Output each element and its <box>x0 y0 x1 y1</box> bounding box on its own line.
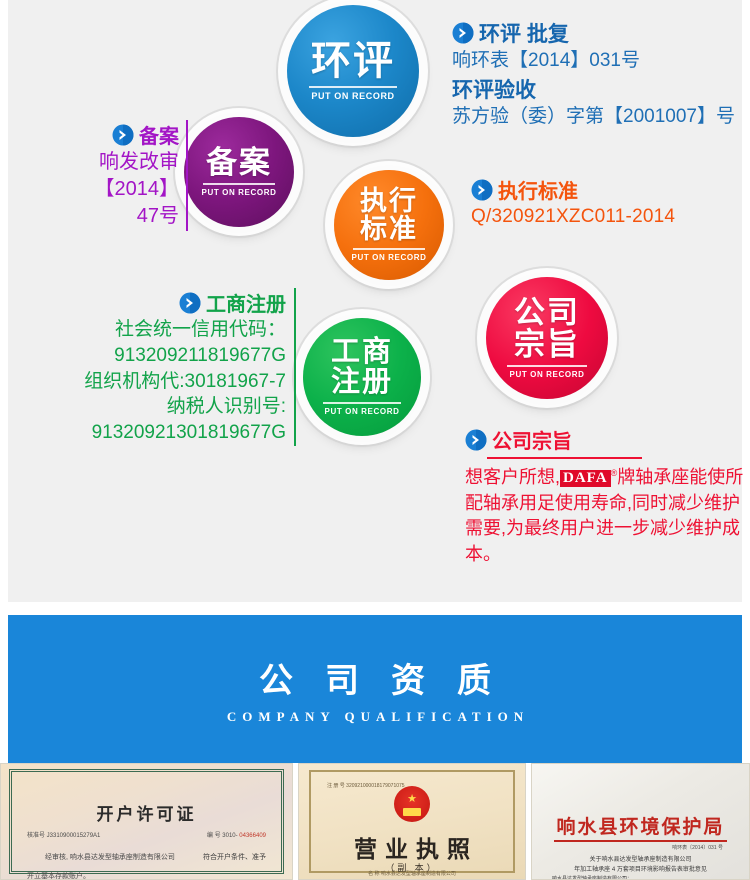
info-zongzhi-body-pre: 想客户所想, <box>465 467 560 487</box>
info-beian-line3: 47号 <box>68 203 179 230</box>
badge-beian-cn: 备案 <box>206 147 272 179</box>
certificate-approved-row: 经审核, 响水县达发型轴承座制造有限公司 <box>45 852 175 862</box>
badge-divider <box>203 183 276 185</box>
info-gongsi-zongzhi: 公司宗旨 想客户所想,DAFA®牌轴承座能使所配轴承用足使用寿命,同时减少维护需… <box>465 425 745 567</box>
info-gongshang-line3: 组织机构代:30181967-7 <box>28 369 286 395</box>
certificate-epb-line2: 年加工轴承座 4 万套项目环境影响报告表审批意见 <box>532 864 749 873</box>
badge-gongshang-cn2: 注册 <box>331 368 393 398</box>
certificate-field-left: 核准号 J3310900015279A1 <box>27 830 100 839</box>
chevron-right-icon <box>452 22 474 44</box>
info-gongshang-line1: 社会统一信用代码： <box>28 317 286 343</box>
certificate-gallery: 开户许可证 核准号 J3310900015279A1 编 号 3010- 043… <box>0 763 750 880</box>
info-gongshang-zhuce: 工商注册 社会统一信用代码： 913209211819677G 组织机构代:30… <box>28 288 296 446</box>
certificate-registration-code: 注 册 号 320921000018179071075 <box>327 782 405 789</box>
certificate-business-license-title: 营业执照 <box>299 830 525 864</box>
badge-zongzhi-cn1: 公司 <box>514 297 580 329</box>
info-huanping-line1: 响环表【2014】031号 <box>452 48 735 74</box>
info-zhixing-line1: Q/320921XZC011-2014 <box>471 204 675 230</box>
info-zhixing-biaozhun: 执行标准 Q/320921XZC011-2014 <box>471 175 675 230</box>
info-gongshang-heading: 工商注册 <box>206 288 286 317</box>
info-huanping-heading2: 环评验收 <box>452 74 735 104</box>
info-beian-heading-row: 备案 <box>68 120 179 149</box>
info-huanping-line2: 苏方验（委）字第【2001007】号 <box>452 104 735 130</box>
certificate-number-value: 3010- <box>222 833 237 839</box>
info-gongshang-line5: 91320921301819677G <box>28 420 286 446</box>
info-huanping-heading-row: 环评 批复 <box>452 18 735 48</box>
certificate-number-label: 编 号 <box>207 833 221 839</box>
badge-zhixing-en: PUT ON RECORD <box>352 253 427 262</box>
certificate-field-right: 编 号 3010- 04366409 <box>207 830 266 839</box>
badge-beian[interactable]: 备案 PUT ON RECORD <box>184 117 294 227</box>
info-gongshang-line2: 913209211819677G <box>28 343 286 369</box>
certificate-epb-title: 响水县环境保护局 <box>532 812 749 839</box>
info-zongzhi-heading: 公司宗旨 <box>492 425 572 454</box>
chevron-right-icon <box>465 429 487 451</box>
certificate-document-number: 响环表〔2014〕031 号 <box>672 844 723 851</box>
badge-huanping-cn: 环评 <box>311 41 395 82</box>
info-gongshang-line4: 纳税人识别号: <box>28 394 286 420</box>
info-zongzhi-body: 想客户所想,DAFA®牌轴承座能使所配轴承用足使用寿命,同时减少维护需要,为最终… <box>465 465 750 567</box>
info-huanping-heading: 环评 批复 <box>479 18 569 48</box>
badge-huanping-en: PUT ON RECORD <box>311 91 394 101</box>
info-zongzhi-divider <box>487 457 642 459</box>
chevron-right-icon <box>471 179 493 201</box>
badge-zhixing-biaozhun[interactable]: 执行 标准 PUT ON RECORD <box>334 170 444 280</box>
badge-gongsi-zongzhi[interactable]: 公司 宗旨 PUT ON RECORD <box>486 277 608 399</box>
badge-zongzhi-cn2: 宗旨 <box>514 329 580 361</box>
badge-divider <box>507 365 588 367</box>
qualification-banner: 公司资质 COMPANY QUALIFICATION <box>8 615 742 763</box>
badge-divider <box>323 402 401 404</box>
info-huanping: 环评 批复 响环表【2014】031号 环评验收 苏方验（委）字第【200100… <box>448 18 735 130</box>
certificate-company-name: 名 称 响水县达发型轴承座制造有限公司 <box>299 870 525 877</box>
certificate-approved-label: 经审核, <box>45 854 68 861</box>
certificate-business-license[interactable]: 注 册 号 320921000018179071075 营业执照 （副 本） 名… <box>298 763 526 880</box>
badge-gongshang-en: PUT ON RECORD <box>325 407 400 416</box>
badge-gongshang-zhuce[interactable]: 工商 注册 PUT ON RECORD <box>303 318 421 436</box>
info-gongshang-heading-row: 工商注册 <box>28 288 286 317</box>
certificate-condition-text: 符合开户条件、准予 <box>203 852 266 862</box>
badge-huanping[interactable]: 环评 PUT ON RECORD <box>287 5 419 137</box>
certification-panel: 环评 PUT ON RECORD 备案 PUT ON RECORD 执行 标准 … <box>8 0 742 602</box>
certificate-number-red: 04366409 <box>239 833 266 839</box>
info-zhixing-heading-row: 执行标准 <box>471 175 675 204</box>
badge-divider <box>309 86 396 88</box>
chevron-right-icon <box>112 124 134 146</box>
chevron-right-icon <box>179 292 201 314</box>
info-zhixing-heading: 执行标准 <box>498 175 578 204</box>
badge-zongzhi-en: PUT ON RECORD <box>510 370 585 379</box>
qualification-title-en: COMPANY QUALIFICATION <box>221 709 529 725</box>
info-beian-line1: 响发改审 <box>68 149 179 176</box>
info-beian-line2: 【2014】 <box>68 176 179 203</box>
qualification-page: 环评 PUT ON RECORD 备案 PUT ON RECORD 执行 标准 … <box>0 0 750 880</box>
certificate-epb-line3: 响水县达发型轴承座制造有限公司： <box>552 875 749 880</box>
info-zongzhi-heading-row: 公司宗旨 <box>465 425 745 454</box>
certificate-epb-line1: 关于响水县达发型轴承座制造有限公司 <box>532 854 749 863</box>
certificate-title-divider <box>554 840 727 842</box>
badge-divider <box>353 248 426 250</box>
certificate-bottom-text: 开立基本存款账户。 <box>27 871 90 880</box>
dafa-brand-logo: DAFA <box>560 470 611 487</box>
badge-beian-en: PUT ON RECORD <box>202 188 277 197</box>
info-beian: 备案 响发改审 【2014】 47号 <box>68 120 188 231</box>
certificate-company-name: 响水县达发型轴承座制造有限公司 <box>70 854 175 861</box>
badge-zhixing-cn2: 标准 <box>360 216 418 244</box>
badge-gongshang-cn1: 工商 <box>331 338 393 368</box>
qualification-title-cn: 公司资质 <box>227 653 523 702</box>
national-emblem-icon <box>394 786 430 822</box>
badge-zhixing-cn1: 执行 <box>360 188 418 216</box>
certificate-bank-permit-title: 开户许可证 <box>1 800 292 825</box>
certificate-bank-permit[interactable]: 开户许可证 核准号 J3310900015279A1 编 号 3010- 043… <box>0 763 293 880</box>
certificate-epb-document[interactable]: 响水县环境保护局 响环表〔2014〕031 号 关于响水县达发型轴承座制造有限公… <box>531 763 750 880</box>
info-beian-heading: 备案 <box>139 120 179 149</box>
